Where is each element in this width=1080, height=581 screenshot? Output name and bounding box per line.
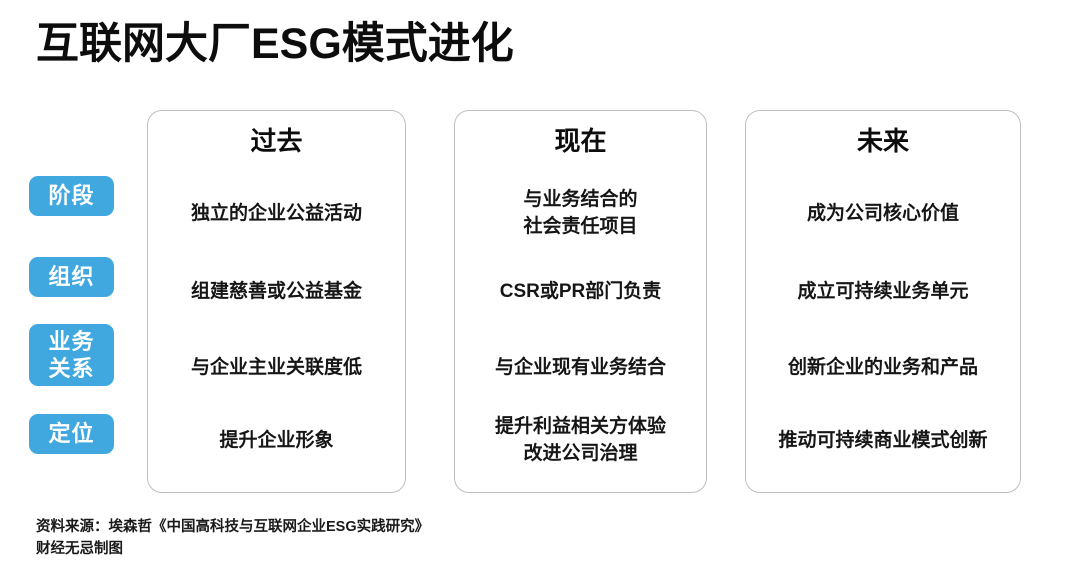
phase-card-past: 过去 独立的企业公益活动 组建慈善或公益基金 与企业主业关联度低 提升企业形象 [147,110,406,493]
page-title: 互联网大厂ESG模式进化 [36,16,514,72]
phase-card-header: 现在 [455,124,706,158]
phase-cell-past-phase: 独立的企业公益活动 [152,185,401,241]
stage-badge-organization: 组织 [29,257,114,297]
source-note-line: 财经无忌制图 [36,538,429,560]
cell-line: 提升利益相关方体验 [459,413,702,440]
cell-line: 成为公司核心价值 [750,200,1016,227]
source-note: 资料来源：埃森哲《中国高科技与互联网企业ESG实践研究》 财经无忌制图 [36,516,429,560]
cell-line: 与业务结合的 [459,186,702,213]
cell-line: 与企业主业关联度低 [152,354,401,381]
phase-cell-present-organization: CSR或PR部门负责 [459,263,702,319]
source-note-line: 资料来源：埃森哲《中国高科技与互联网企业ESG实践研究》 [36,516,429,538]
phase-card-header: 过去 [148,124,405,158]
stage-badge-business-relation: 业务 关系 [29,324,114,386]
cell-line: 社会责任项目 [459,213,702,240]
stage-badge-line: 关系 [29,355,114,382]
phase-cell-future-phase: 成为公司核心价值 [750,185,1016,241]
phase-card-present: 现在 与业务结合的 社会责任项目 CSR或PR部门负责 与企业现有业务结合 提升… [454,110,707,493]
stage-badge-line: 阶段 [29,182,114,209]
stage-badge-line: 定位 [29,420,114,447]
cell-line: 独立的企业公益活动 [152,200,401,227]
cell-line: 创新企业的业务和产品 [750,354,1016,381]
phase-cell-present-phase: 与业务结合的 社会责任项目 [459,185,702,241]
cell-line: 组建慈善或公益基金 [152,278,401,305]
phase-cell-past-organization: 组建慈善或公益基金 [152,263,401,319]
phase-cell-future-positioning: 推动可持续商业模式创新 [750,411,1016,469]
cell-line: 与企业现有业务结合 [459,354,702,381]
phase-cell-past-positioning: 提升企业形象 [152,411,401,469]
phase-cell-future-business-relation: 创新企业的业务和产品 [750,339,1016,395]
phase-card-header: 未来 [746,124,1020,158]
stage-badge-positioning: 定位 [29,414,114,454]
cell-line: 改进公司治理 [459,440,702,467]
stage-badge-line: 业务 [29,328,114,355]
cell-line: 成立可持续业务单元 [750,278,1016,305]
phase-cell-future-organization: 成立可持续业务单元 [750,263,1016,319]
stage-label-rail: 阶段 组织 业务 关系 定位 [29,100,129,500]
stage-badge-phase: 阶段 [29,176,114,216]
cell-line: CSR或PR部门负责 [459,278,702,305]
phase-card-future: 未来 成为公司核心价值 成立可持续业务单元 创新企业的业务和产品 推动可持续商业… [745,110,1021,493]
phase-cell-present-business-relation: 与企业现有业务结合 [459,339,702,395]
phase-cell-present-positioning: 提升利益相关方体验 改进公司治理 [459,411,702,469]
cell-line: 提升企业形象 [152,427,401,454]
phase-cell-past-business-relation: 与企业主业关联度低 [152,339,401,395]
cell-line: 推动可持续商业模式创新 [750,427,1016,454]
stage-badge-line: 组织 [29,263,114,290]
